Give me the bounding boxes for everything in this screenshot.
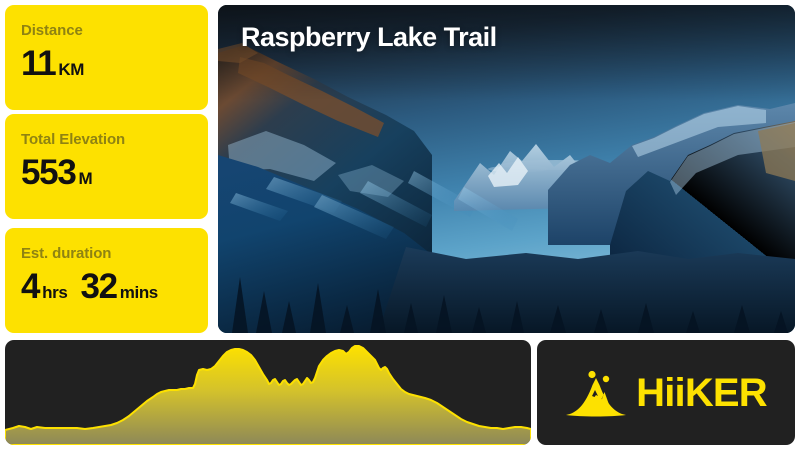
stat-value-duration: 4 hrs 32 mins [21, 269, 192, 304]
elevation-area-path [5, 346, 531, 445]
stat-unit-distance: KM [58, 61, 84, 78]
brand-name: HiiKER [636, 373, 767, 413]
stat-label-duration: Est. duration [21, 246, 192, 263]
stat-number-hours: 4 [21, 269, 39, 304]
stat-unit-minutes: mins [120, 284, 158, 301]
page-title: Raspberry Lake Trail [241, 22, 497, 53]
stat-number-minutes: 32 [80, 269, 116, 304]
stat-card-duration: Est. duration 4 hrs 32 mins [5, 228, 208, 333]
hero-image-panel[interactable]: Raspberry Lake Trail [218, 5, 795, 333]
stat-unit-elevation: M [79, 170, 93, 187]
brand-logo-panel[interactable]: HiiKER [537, 340, 795, 445]
mountain-peaks-icon [565, 369, 627, 417]
elevation-area-plot [5, 340, 531, 445]
trail-summary-card: Distance 11 KM Total Elevation 553 M Est… [0, 0, 800, 450]
stat-number-elevation: 553 [21, 155, 76, 190]
stat-value-distance: 11 KM [21, 46, 192, 81]
stat-value-elevation: 553 M [21, 155, 192, 190]
stat-label-distance: Distance [21, 23, 192, 40]
stat-card-elevation: Total Elevation 553 M [5, 114, 208, 219]
stat-label-elevation: Total Elevation [21, 132, 192, 149]
stat-unit-hours: hrs [42, 284, 67, 301]
stat-number-distance: 11 [21, 46, 55, 81]
stat-card-distance: Distance 11 KM [5, 5, 208, 110]
elevation-profile-chart[interactable] [5, 340, 531, 445]
hero-illustration [218, 5, 795, 333]
